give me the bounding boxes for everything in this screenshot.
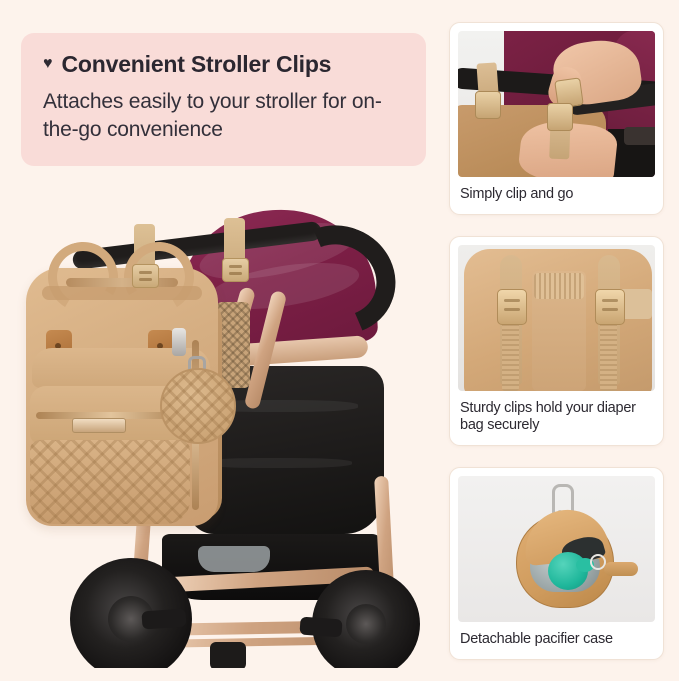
feature-description: Attaches easily to your stroller for on-… bbox=[43, 88, 404, 143]
hands-clipping-bag-to-stroller-bar-photo bbox=[458, 31, 655, 177]
frame-hinge bbox=[210, 642, 246, 668]
feature-header-card: ♥ Convenient Stroller Clips Attaches eas… bbox=[21, 33, 426, 166]
feature-title: Convenient Stroller Clips bbox=[62, 51, 332, 78]
bag-top-seam bbox=[42, 286, 202, 300]
stroller-clip-buckle bbox=[222, 258, 249, 282]
seat-fold bbox=[202, 458, 352, 468]
person-belt bbox=[624, 127, 655, 145]
card-caption: Sturdy clips hold your diaper bag secure… bbox=[450, 391, 663, 445]
stroller-clip-buckle bbox=[595, 289, 625, 325]
attached-pacifier-case bbox=[160, 368, 236, 444]
card-detachable-pacifier-case: Detachable pacifier case bbox=[449, 467, 664, 660]
wheel-hub bbox=[346, 604, 386, 644]
hero-product-photo bbox=[12, 190, 437, 668]
wheel-axle bbox=[299, 617, 342, 638]
bag-brand-plate bbox=[72, 418, 126, 433]
strap-webbing bbox=[600, 319, 617, 391]
backpack-straps-with-clips-photo bbox=[458, 245, 655, 391]
card-caption: Detachable pacifier case bbox=[450, 622, 663, 659]
backpack-padding-ridge bbox=[534, 273, 584, 299]
hero-stage bbox=[12, 190, 437, 668]
feature-cards-column: Simply clip and go Sturdy clips hold you… bbox=[449, 22, 664, 681]
bag-top-zipper bbox=[66, 278, 178, 287]
card-caption: Simply clip and go bbox=[450, 177, 663, 214]
case-zipper-tab bbox=[604, 562, 638, 576]
stroller-clip-buckle bbox=[475, 91, 501, 119]
heart-icon: ♥ bbox=[43, 56, 53, 72]
stroller-clip-buckle bbox=[497, 289, 527, 325]
wheel-axle bbox=[141, 608, 186, 629]
card-simply-clip-and-go: Simply clip and go bbox=[449, 22, 664, 215]
open-pacifier-case-with-teal-pacifier-photo bbox=[458, 476, 655, 622]
card-sturdy-clips: Sturdy clips hold your diaper bag secure… bbox=[449, 236, 664, 446]
infographic-page: ♥ Convenient Stroller Clips Attaches eas… bbox=[0, 0, 679, 679]
stroller-clip-buckle bbox=[547, 103, 573, 131]
bag-zipper-pull bbox=[172, 328, 186, 356]
strap-webbing bbox=[502, 319, 519, 391]
bag-quilted-panel bbox=[30, 440, 190, 524]
stroller-clip-buckle bbox=[132, 264, 159, 288]
feature-title-row: ♥ Convenient Stroller Clips bbox=[43, 51, 404, 78]
basket-contents bbox=[198, 546, 270, 572]
